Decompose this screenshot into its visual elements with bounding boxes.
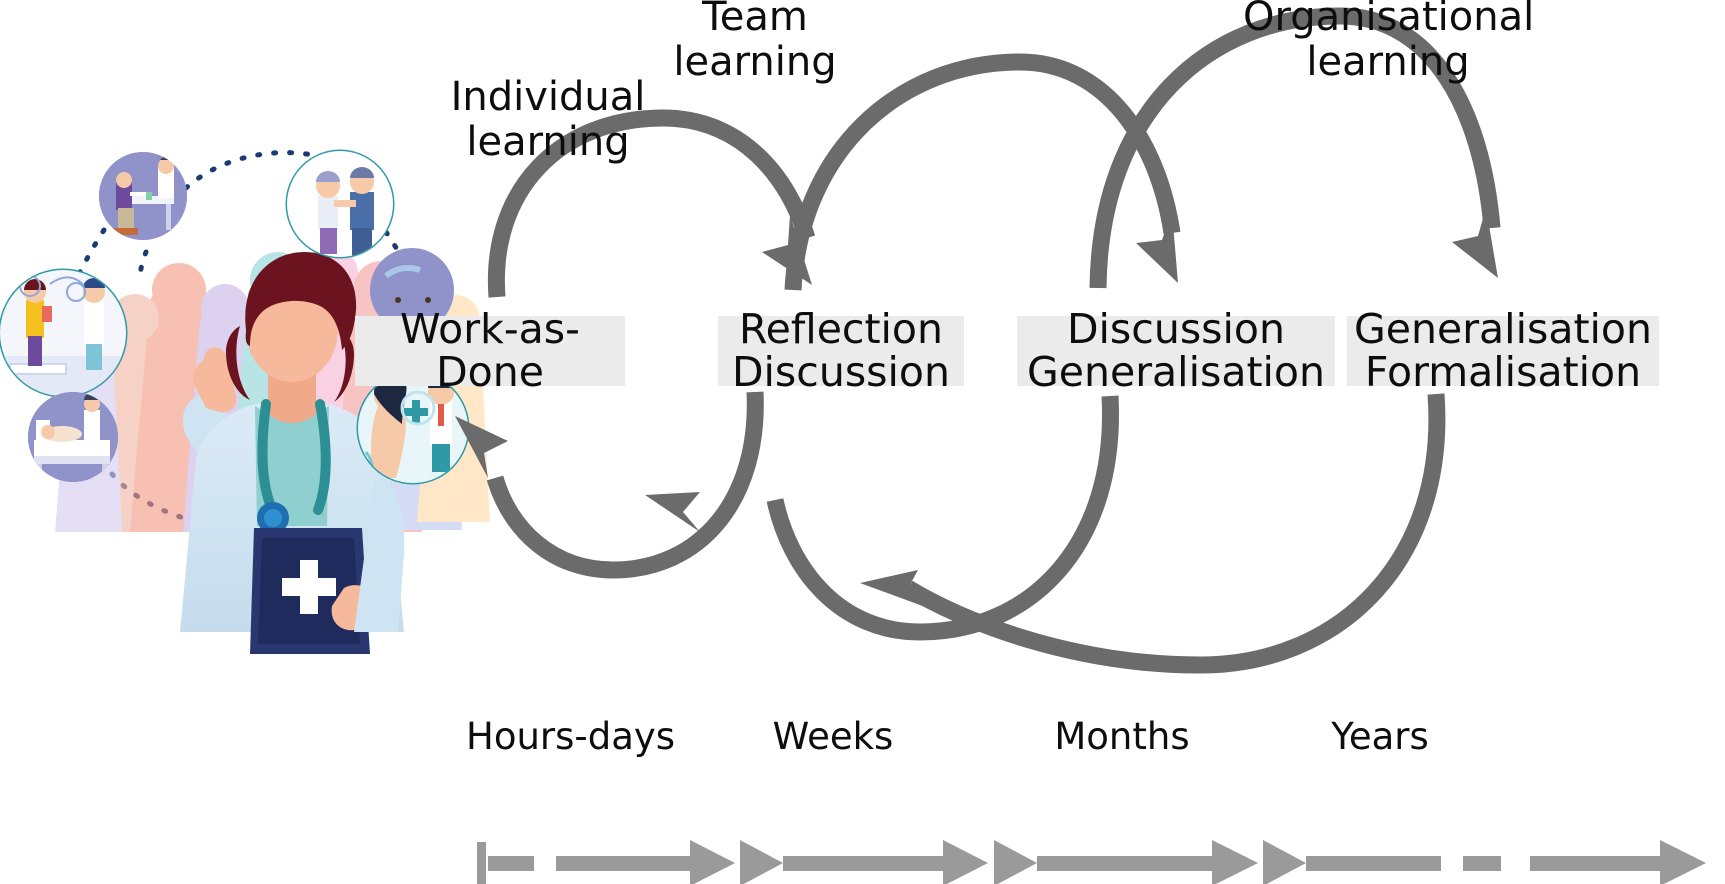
timeline-label-months: Months <box>1052 715 1192 758</box>
loop-label-line-2: learning <box>466 119 629 165</box>
timeline-label-years: Years <box>1320 715 1440 758</box>
timeline-label-weeks: Weeks <box>768 715 898 758</box>
timeline-label-hours-days: Hours-days <box>466 715 656 758</box>
loop-label-line-1: Team <box>702 0 808 40</box>
loop-label-line-1: Individual <box>451 74 646 120</box>
loop-label-team-learning: Team learning <box>655 0 855 85</box>
loop-label-individual-learning: Individual learning <box>443 75 653 165</box>
loop-label-line-2: learning <box>673 39 836 85</box>
loop-label-line-2: learning <box>1306 39 1469 85</box>
loop-label-organisational-learning: Organisational learning <box>1243 0 1533 85</box>
loop-label-line-1: Organisational <box>1243 0 1534 40</box>
diagram-canvas: Work-as- Done Reflection Discussion Disc… <box>0 0 1725 884</box>
